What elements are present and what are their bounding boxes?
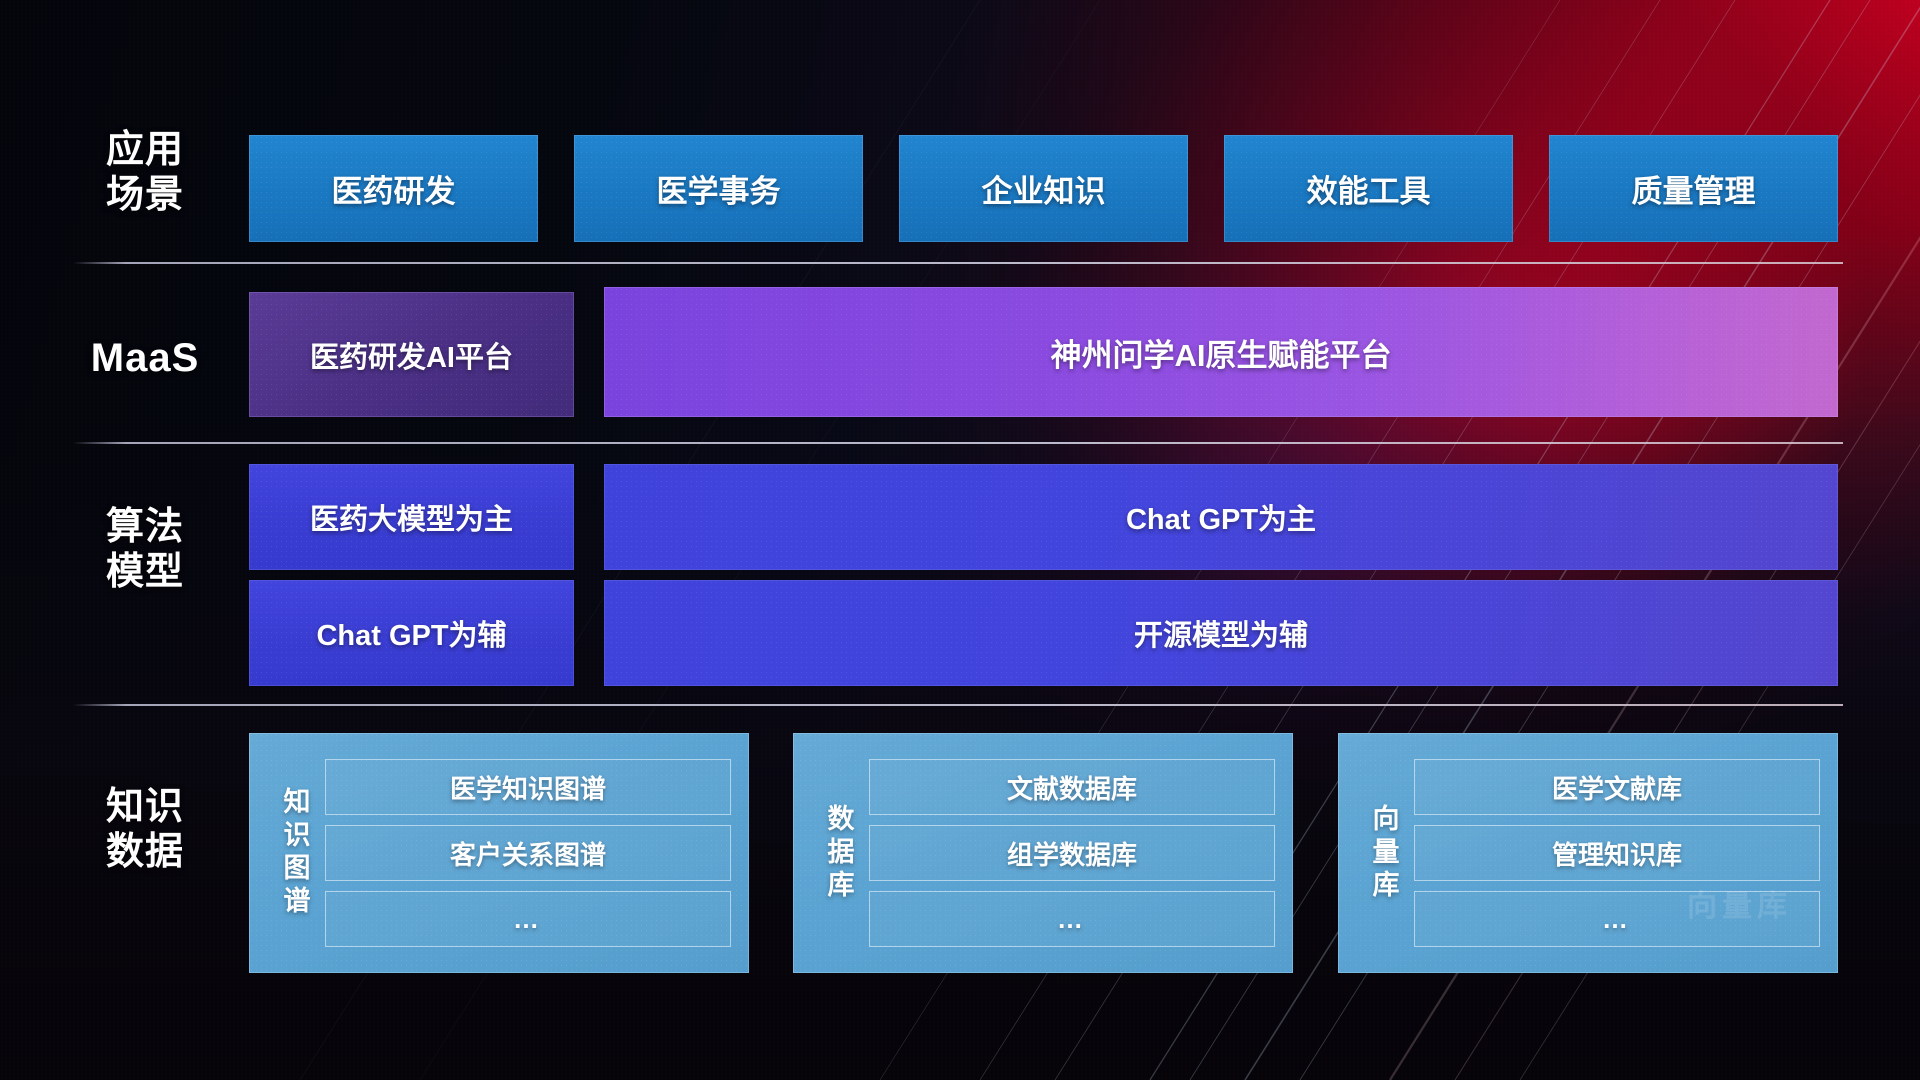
- knowledge-item[interactable]: 客户关系图谱: [325, 825, 731, 881]
- row-label-line-2: 数据: [60, 830, 230, 875]
- app-tile-drug-rd[interactable]: 医药研发: [249, 135, 538, 242]
- maas-tile-label: 医药研发AI平台: [310, 334, 513, 376]
- app-tile-efficiency-tools[interactable]: 效能工具: [1224, 135, 1513, 242]
- knowledge-item-label: …: [1057, 904, 1087, 935]
- knowledge-item[interactable]: 医学知识图谱: [325, 759, 731, 815]
- knowledge-panel-items: 医学知识图谱 客户关系图谱 …: [325, 747, 731, 959]
- app-tile-label: 效能工具: [1307, 166, 1431, 211]
- algo-tile-label: 医药大模型为主: [310, 496, 513, 538]
- knowledge-item-label: 文献数据库: [1007, 769, 1137, 806]
- app-tile-label: 医药研发: [332, 166, 456, 211]
- row-label-line-1: MaaS: [60, 335, 230, 382]
- maas-tile-drug-rd-ai-platform[interactable]: 医药研发AI平台: [249, 292, 574, 417]
- knowledge-item-more[interactable]: …: [869, 891, 1275, 947]
- knowledge-item[interactable]: 管理知识库: [1414, 825, 1820, 881]
- knowledge-panel-vertical-label: 知识图谱: [263, 747, 325, 959]
- knowledge-item[interactable]: 医学文献库: [1414, 759, 1820, 815]
- knowledge-panel-knowledge-graph[interactable]: 知识图谱 医学知识图谱 客户关系图谱 …: [249, 733, 749, 973]
- knowledge-item-more[interactable]: …: [325, 891, 731, 947]
- knowledge-panel-items: 医学文献库 管理知识库 …: [1414, 747, 1820, 959]
- knowledge-panel-vector-store[interactable]: 向量库 医学文献库 管理知识库 … 向量库: [1338, 733, 1838, 973]
- knowledge-panel-vertical-label: 数据库: [807, 747, 869, 959]
- row-label-line-1: 算法: [60, 505, 230, 550]
- knowledge-item[interactable]: 文献数据库: [869, 759, 1275, 815]
- row-label-line-1: 应用: [60, 128, 230, 173]
- knowledge-item-label: 医学知识图谱: [450, 769, 606, 806]
- algo-tile-chatgpt-secondary[interactable]: Chat GPT为辅: [249, 580, 574, 686]
- knowledge-item[interactable]: 组学数据库: [869, 825, 1275, 881]
- app-tile-label: 企业知识: [982, 166, 1106, 211]
- maas-tile-label: 神州问学AI原生赋能平台: [1051, 330, 1392, 375]
- knowledge-panel-items: 文献数据库 组学数据库 …: [869, 747, 1275, 959]
- knowledge-item-label: …: [1602, 904, 1632, 935]
- algo-tile-label: Chat GPT为主: [1126, 496, 1316, 538]
- slide-canvas: 应用 场景 医药研发 医学事务 企业知识 效能工具 质量管理 MaaS 医药研发…: [0, 0, 1920, 1080]
- knowledge-item-label: 管理知识库: [1552, 835, 1682, 872]
- algo-tile-opensource-secondary[interactable]: 开源模型为辅: [604, 580, 1838, 686]
- knowledge-item-more[interactable]: …: [1414, 891, 1820, 947]
- row-label-line-2: 模型: [60, 550, 230, 595]
- divider-after-algorithms: [73, 704, 1843, 706]
- row-label-algorithm-models: 算法 模型: [60, 505, 230, 595]
- app-tile-label: 医学事务: [657, 166, 781, 211]
- algo-tile-label: Chat GPT为辅: [316, 612, 506, 654]
- app-tile-label: 质量管理: [1632, 166, 1756, 211]
- knowledge-panel-vertical-label: 向量库: [1352, 747, 1414, 959]
- row-label-line-2: 场景: [60, 173, 230, 218]
- row-label-knowledge-data: 知识 数据: [60, 785, 230, 875]
- algo-tile-label: 开源模型为辅: [1134, 612, 1308, 654]
- algo-tile-pharma-llm-primary[interactable]: 医药大模型为主: [249, 464, 574, 570]
- app-tile-quality-management[interactable]: 质量管理: [1549, 135, 1838, 242]
- row-label-application-scenarios: 应用 场景: [60, 128, 230, 218]
- maas-tile-shenzhou-wenxue-platform[interactable]: 神州问学AI原生赋能平台: [604, 287, 1838, 417]
- knowledge-item-label: …: [513, 904, 543, 935]
- knowledge-item-label: 客户关系图谱: [450, 835, 606, 872]
- algo-tile-chatgpt-primary[interactable]: Chat GPT为主: [604, 464, 1838, 570]
- row-label-line-1: 知识: [60, 785, 230, 830]
- knowledge-item-label: 医学文献库: [1552, 769, 1682, 806]
- app-tile-medical-affairs[interactable]: 医学事务: [574, 135, 863, 242]
- divider-after-maas: [73, 442, 1843, 444]
- app-tile-enterprise-knowledge[interactable]: 企业知识: [899, 135, 1188, 242]
- divider-after-applications: [73, 262, 1843, 264]
- knowledge-panel-database[interactable]: 数据库 文献数据库 组学数据库 …: [793, 733, 1293, 973]
- row-label-maas: MaaS: [60, 335, 230, 382]
- knowledge-item-label: 组学数据库: [1007, 835, 1137, 872]
